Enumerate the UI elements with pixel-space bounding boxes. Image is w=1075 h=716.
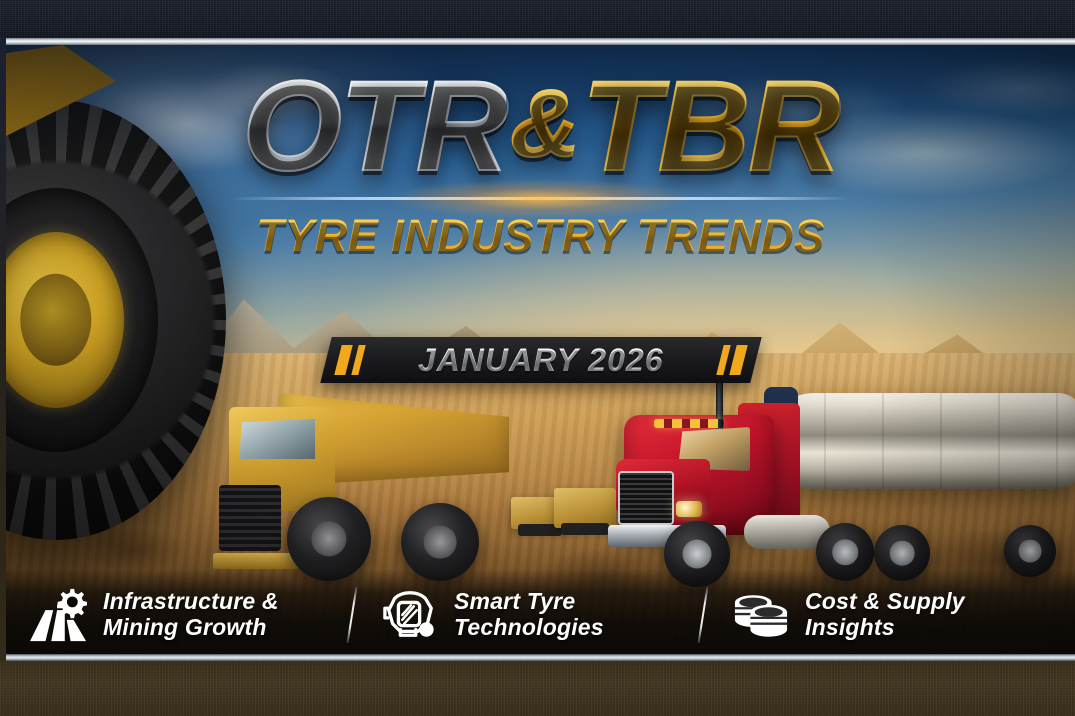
feature-label-3: Cost & Supply Insights xyxy=(805,589,965,641)
title-part-tbr: TBR xyxy=(582,55,839,198)
double-slash-icon-left xyxy=(334,345,365,375)
tanker-trailer-ribs xyxy=(766,393,1075,489)
feature-label-2: Smart Tyre Technologies xyxy=(454,589,604,641)
feature-label-1: Infrastructure & Mining Growth xyxy=(103,589,279,641)
yellow-mining-haul-truck xyxy=(211,385,511,585)
feature-smart-tyre-tech: Smart Tyre Technologies xyxy=(353,587,702,643)
double-slash-icon-right xyxy=(716,345,747,375)
haul-truck-grille xyxy=(219,485,281,551)
bevel-bottom xyxy=(0,654,1075,661)
feature-cost-supply-insights: Cost & Supply Insights xyxy=(704,587,1053,643)
outer-border-top xyxy=(0,0,1075,38)
outer-border-bottom xyxy=(0,661,1075,716)
lens-flare-divider xyxy=(231,197,851,200)
truck-grille xyxy=(618,471,674,525)
road-gear-icon xyxy=(28,587,90,643)
feature-bar: Infrastructure & Mining Growth xyxy=(6,569,1075,661)
title-part-otr: OTR xyxy=(242,55,506,198)
bevel-top xyxy=(0,38,1075,45)
title-ampersand: & xyxy=(510,70,577,177)
headline-block: OTR&TBR TYRE INDUSTRY TRENDS xyxy=(6,63,1075,262)
poster-frame: OTR&TBR TYRE INDUSTRY TRENDS JANUARY 202… xyxy=(0,0,1075,716)
outer-border-left xyxy=(0,38,6,661)
feature-infrastructure-mining: Infrastructure & Mining Growth xyxy=(28,587,351,643)
smart-tyre-sensor-icon xyxy=(379,587,441,643)
haul-truck-windshield xyxy=(239,419,315,459)
page-title: OTR&TBR xyxy=(242,63,839,191)
coin-stack-icon xyxy=(730,587,792,643)
haul-truck-bumper xyxy=(213,553,299,569)
date-banner: JANUARY 2026 xyxy=(320,337,761,383)
date-label: JANUARY 2026 xyxy=(418,342,664,379)
truck-headlight xyxy=(676,501,702,517)
cab-marker-lights xyxy=(654,419,724,428)
poster-artwork: OTR&TBR TYRE INDUSTRY TRENDS JANUARY 202… xyxy=(6,45,1075,661)
